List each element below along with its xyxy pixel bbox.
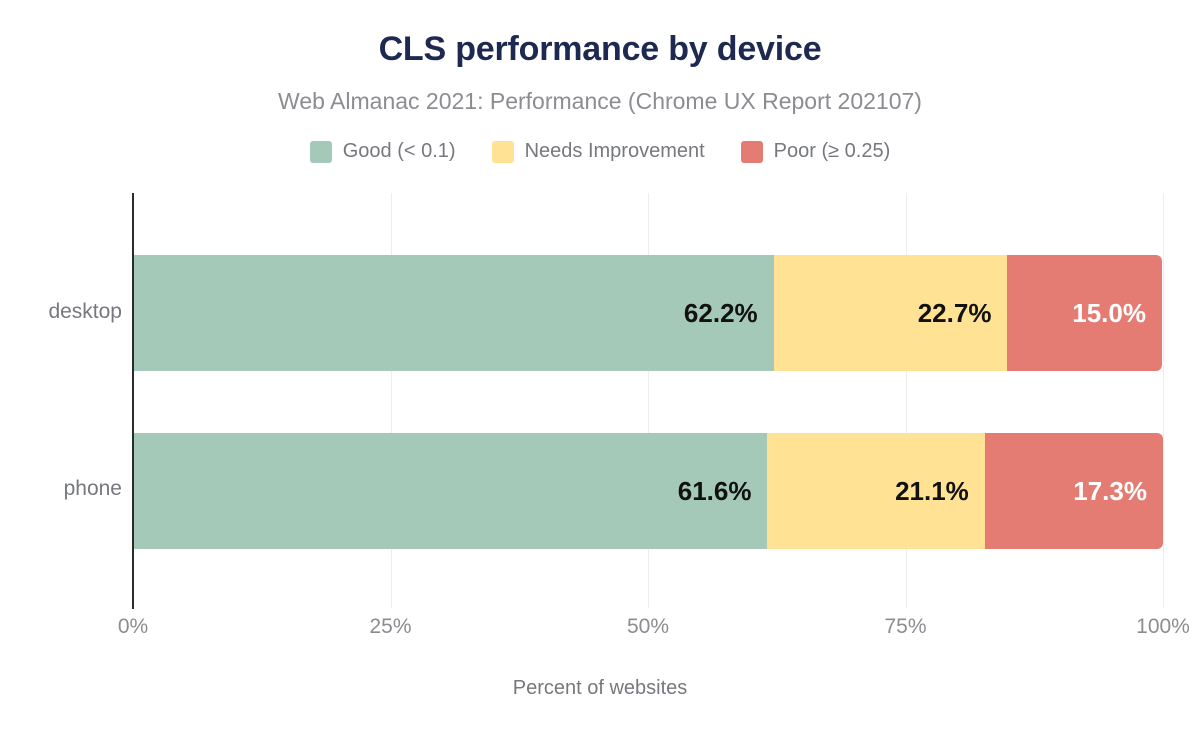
y-tick-label-desktop: desktop <box>0 300 122 324</box>
bar-label-phone-needs-improvement: 21.1% <box>895 476 969 507</box>
bar-label-phone-poor: 17.3% <box>1073 476 1147 507</box>
bar-segment-phone-needs-improvement[interactable]: 21.1% <box>767 433 984 549</box>
legend-label-good: Good (< 0.1) <box>343 140 456 163</box>
bar-label-desktop-poor: 15.0% <box>1072 298 1146 329</box>
legend-item-poor[interactable]: Poor (≥ 0.25) <box>741 140 891 163</box>
legend-item-good[interactable]: Good (< 0.1) <box>310 140 456 163</box>
y-axis-line <box>132 193 134 609</box>
x-tick-label-50: 50% <box>578 615 718 639</box>
legend-item-needs-improvement[interactable]: Needs Improvement <box>492 140 705 163</box>
x-tick-label-100: 100% <box>1093 615 1200 639</box>
chart-figure: CLS performance by device Web Almanac 20… <box>0 0 1200 742</box>
plot-area: 62.2% 22.7% 15.0% 61.6% 21.1% 17.3% <box>133 193 1163 608</box>
x-tick-label-0: 0% <box>63 615 203 639</box>
bar-label-desktop-good: 62.2% <box>684 298 758 329</box>
legend-swatch-poor-icon <box>741 141 763 163</box>
legend-label-poor: Poor (≥ 0.25) <box>774 140 891 163</box>
bar-segment-phone-poor[interactable]: 17.3% <box>985 433 1163 549</box>
bar-label-desktop-needs-improvement: 22.7% <box>918 298 992 329</box>
y-tick-label-phone: phone <box>0 477 122 501</box>
chart-subtitle: Web Almanac 2021: Performance (Chrome UX… <box>0 88 1200 114</box>
bar-row-phone: 61.6% 21.1% 17.3% <box>133 433 1163 549</box>
x-tick-label-25: 25% <box>321 615 461 639</box>
legend-swatch-good-icon <box>310 141 332 163</box>
legend-swatch-needs-improvement-icon <box>492 141 514 163</box>
legend-label-needs-improvement: Needs Improvement <box>525 140 705 163</box>
bar-segment-desktop-poor[interactable]: 15.0% <box>1007 255 1162 371</box>
bar-segment-phone-good[interactable]: 61.6% <box>133 433 767 549</box>
chart-legend: Good (< 0.1) Needs Improvement Poor (≥ 0… <box>0 140 1200 163</box>
bar-segment-desktop-good[interactable]: 62.2% <box>133 255 774 371</box>
x-tick-label-75: 75% <box>836 615 976 639</box>
bar-label-phone-good: 61.6% <box>678 476 752 507</box>
x-axis-title: Percent of websites <box>0 677 1200 700</box>
bar-segment-desktop-needs-improvement[interactable]: 22.7% <box>774 255 1008 371</box>
chart-title: CLS performance by device <box>0 30 1200 69</box>
bar-row-desktop: 62.2% 22.7% 15.0% <box>133 255 1163 371</box>
gridline-100 <box>1163 193 1164 608</box>
